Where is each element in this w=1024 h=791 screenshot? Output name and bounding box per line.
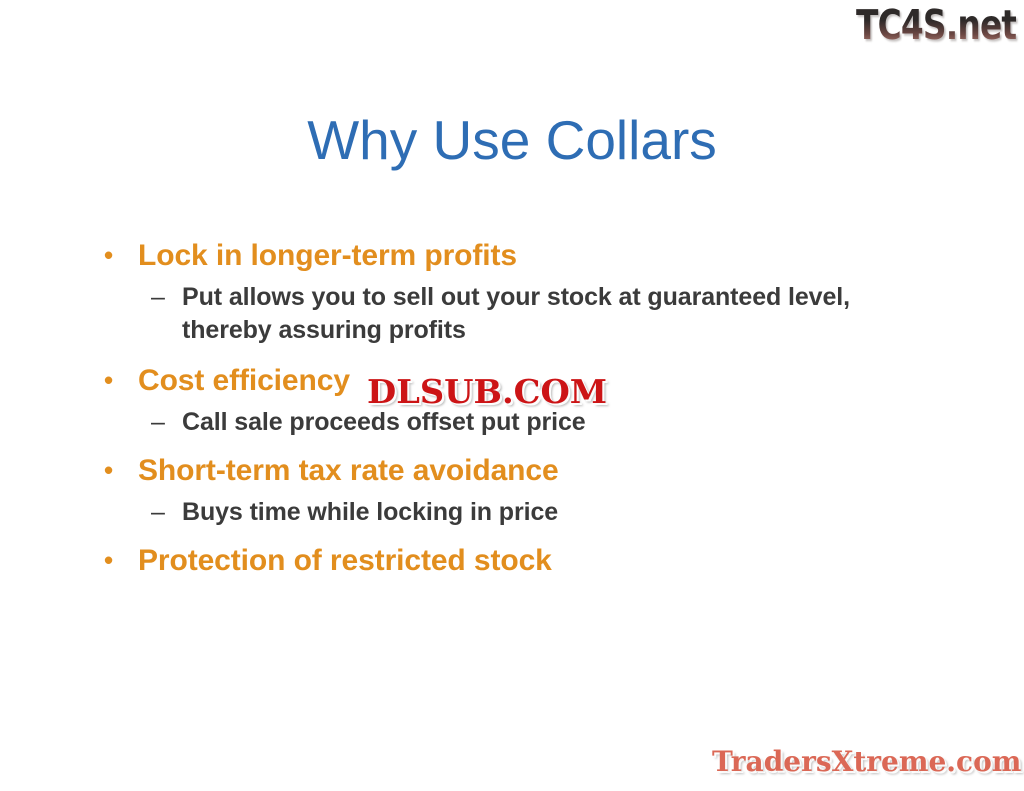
page-title: Why Use Collars: [0, 108, 1024, 172]
bullet-label-4: Protection of restricted stock: [138, 544, 552, 577]
bullet-item-4: • Protection of restricted stock: [96, 541, 976, 580]
bullet-marker-icon: •: [104, 361, 113, 400]
bullet-marker-icon: •: [104, 541, 113, 580]
bullet-label-3: Short-term tax rate avoidance: [138, 454, 559, 487]
sub-bullet-item-1-1: – Put allows you to sell out your stock …: [96, 281, 972, 347]
bullet-marker-icon: •: [104, 236, 113, 275]
sub-bullet-item-3-1: – Buys time while locking in price: [96, 496, 972, 529]
bullet-label-2: Cost efficiency: [138, 364, 350, 397]
bullet-marker-icon: •: [104, 451, 113, 490]
dlsub-watermark: DLSUB.COM: [367, 372, 607, 412]
sub-bullet-dash-icon: –: [151, 496, 165, 529]
bullet-label-1: Lock in longer-term profits: [138, 239, 517, 272]
sub-bullet-dash-icon: –: [151, 406, 165, 439]
sub-bullet-label-1-1-line2: thereby assuring profits: [182, 314, 972, 347]
slide-canvas: TC4S.net Why Use Collars • Lock in longe…: [0, 0, 1024, 791]
tradersxtreme-watermark: TradersXtreme.com: [712, 744, 1021, 780]
tc4s-watermark: TC4S.net: [856, 2, 1016, 48]
sub-bullet-label-3-1: Buys time while locking in price: [182, 496, 972, 529]
sub-bullet-label-1-1-line1: Put allows you to sell out your stock at…: [182, 281, 972, 314]
bullet-item-3: • Short-term tax rate avoidance: [96, 451, 976, 490]
bullet-item-1: • Lock in longer-term profits: [96, 236, 976, 275]
sub-bullet-dash-icon: –: [151, 281, 165, 314]
